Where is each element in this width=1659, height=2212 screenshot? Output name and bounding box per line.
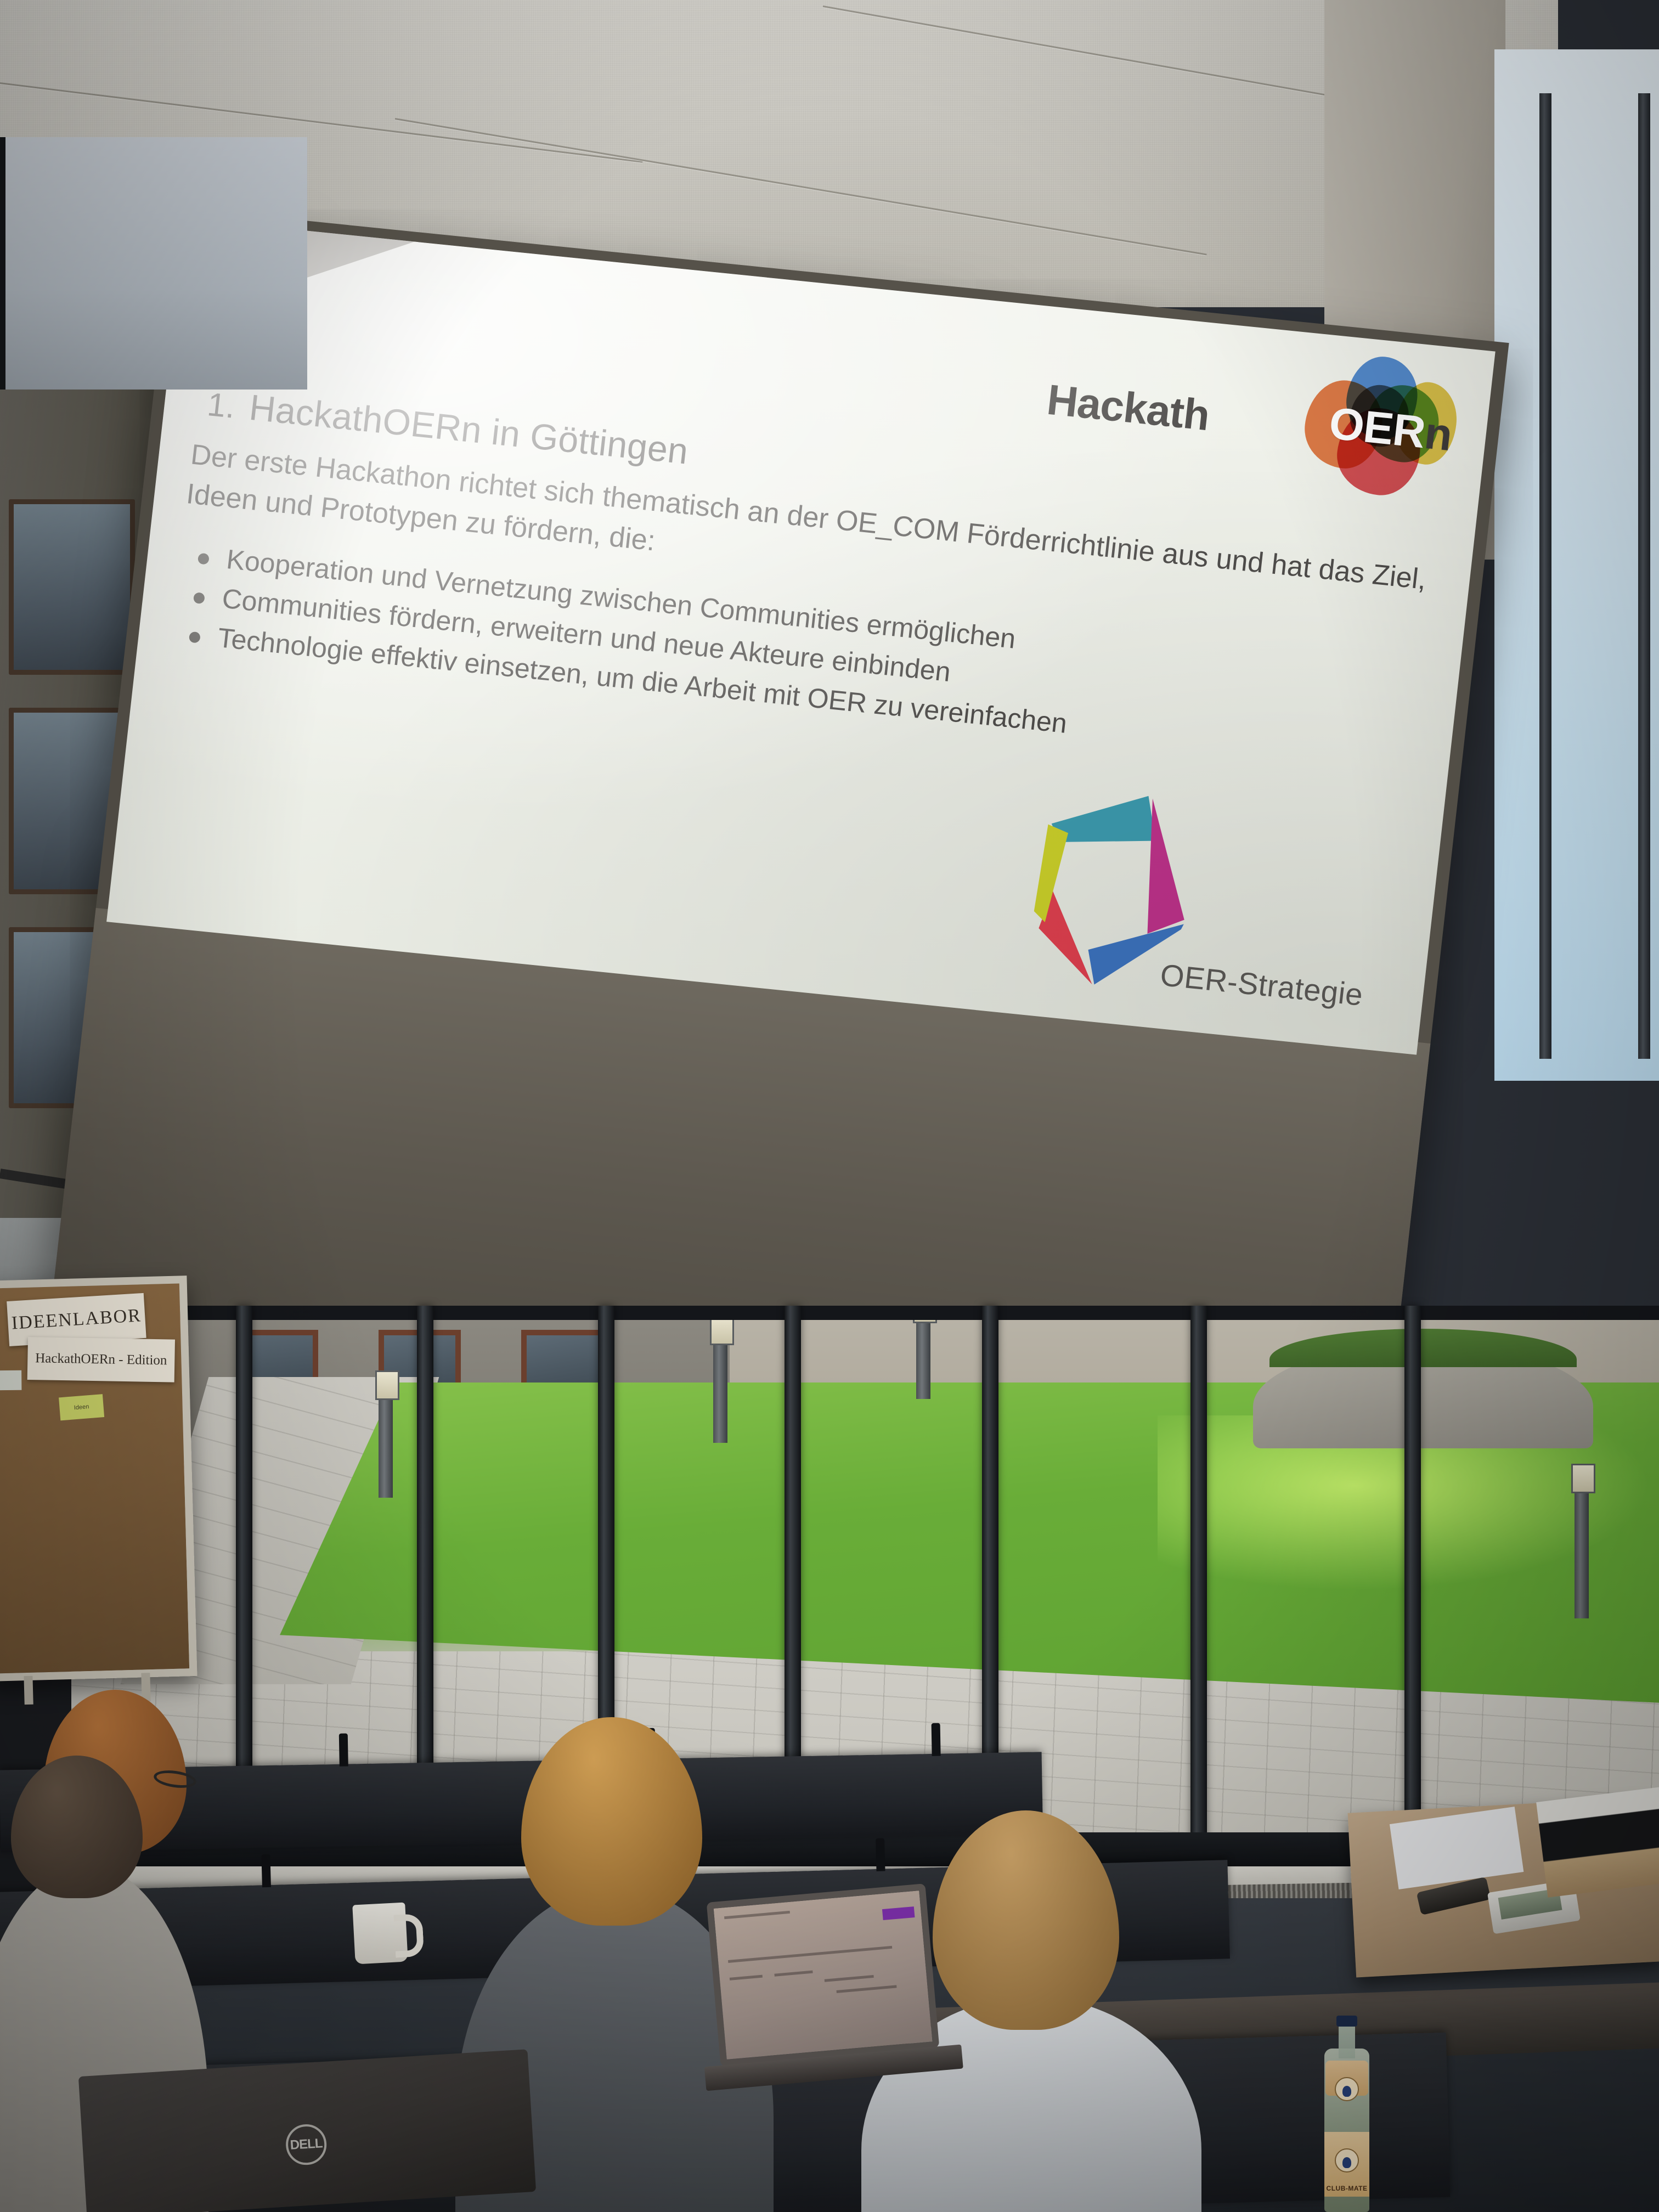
hackathoern-blobs: OERn [1272, 346, 1468, 500]
coffee-mug [352, 1903, 408, 1965]
window-mullion [1404, 1306, 1421, 1871]
screen-text-line [837, 1985, 897, 1993]
desk-equipment-box [1536, 1787, 1659, 1898]
bottle-seal-icon [1335, 2148, 1359, 2172]
screen-text-line [825, 1975, 874, 1982]
window-mullion [1539, 93, 1551, 1059]
courtyard-planter [1253, 1344, 1593, 1448]
hackathoern-logo: Hackath OERn [1041, 322, 1471, 500]
screen-text-line [724, 1911, 790, 1919]
bottle-neck-label [1325, 2061, 1368, 2096]
photo-scene: Hackath OERn 1.HackathOERn in Göttingen [0, 0, 1659, 2212]
club-mate-bottle: CLUB-MATE [1317, 2019, 1377, 2212]
pinboard-sign-edition: HackathOERn - Edition [27, 1337, 175, 1383]
control-desk [1348, 1797, 1659, 1978]
pinboard: IDEENLABOR HackathOERn - Edition Ideen [0, 1276, 197, 1681]
left-wall-window [9, 499, 135, 675]
presentation-slide: Hackath OERn 1.HackathOERn in Göttingen [106, 218, 1496, 1055]
upper-window-sky [1494, 49, 1659, 1081]
oern-suffix: n [1422, 408, 1454, 460]
desk-paper [1390, 1807, 1523, 1889]
oer-strategie-logo: OER-Strategie [1010, 763, 1386, 1032]
seat-divider [876, 1838, 885, 1871]
bollard-lamp [1575, 1487, 1589, 1618]
screen-accent-badge [882, 1906, 915, 1920]
seat-divider [932, 1723, 941, 1756]
bollard-lamp [916, 1317, 930, 1399]
hackathoern-wordmark: Hackath [1045, 375, 1212, 441]
seat-divider [261, 1854, 271, 1887]
screen-text-line [730, 1975, 763, 1980]
laptop-screen [707, 1883, 940, 2067]
open-laptop [707, 1883, 940, 2067]
desk-front-panel [0, 137, 307, 390]
window-mullion [1638, 93, 1650, 1059]
bottle-cap [1336, 2016, 1357, 2027]
bottle-seal-icon [1335, 2077, 1359, 2101]
bottle-label: CLUB-MATE [1324, 2132, 1369, 2197]
oern-highlight: OER [1327, 398, 1427, 458]
bollard-lamp [379, 1393, 393, 1498]
oer-strategie-label: OER-Strategie [1159, 957, 1365, 1013]
bollard-lamp [713, 1339, 727, 1443]
pinboard-card [0, 1370, 21, 1391]
closed-laptop: DELL [78, 2049, 536, 2212]
window-mullion [1190, 1306, 1207, 1871]
screen-text-line [728, 1946, 892, 1963]
logo-triangle-teal [1049, 787, 1160, 852]
sticky-note: Ideen [59, 1394, 104, 1420]
seat-divider [339, 1734, 348, 1767]
screen-text-line [774, 1971, 812, 1977]
dell-logo-icon: DELL [285, 2123, 328, 2166]
slide-title-number: 1. [206, 386, 238, 425]
